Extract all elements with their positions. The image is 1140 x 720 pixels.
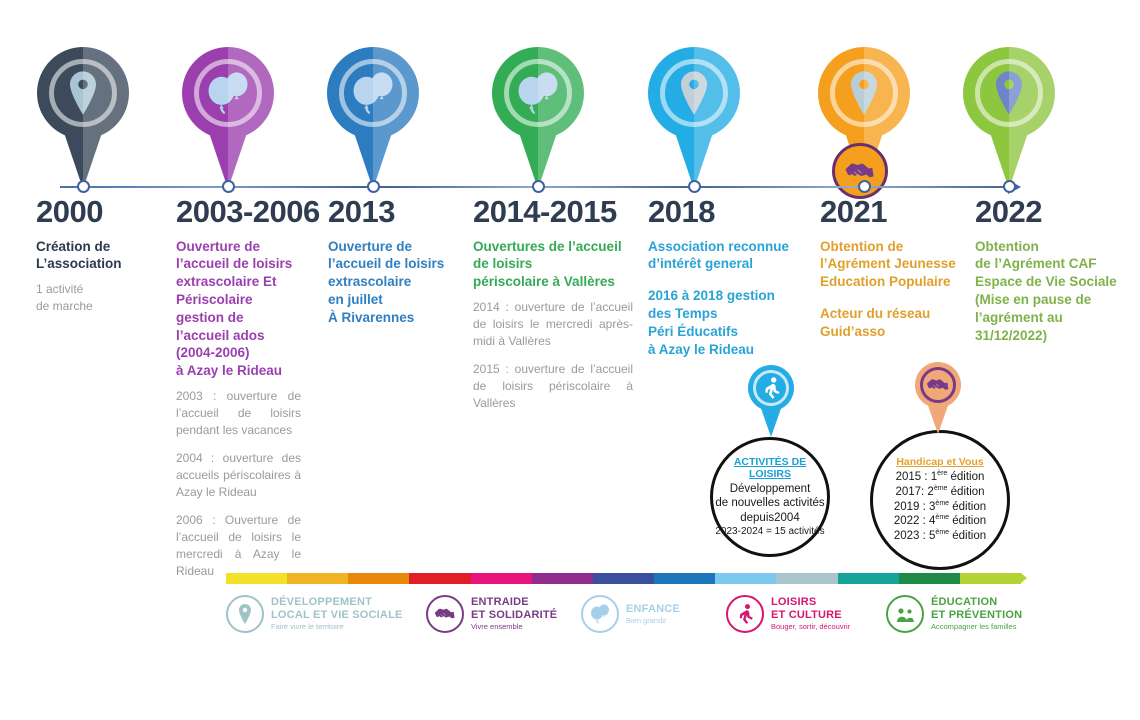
detail-paragraph: 2015 : ouverture de l’accueil de loisirs… (473, 361, 633, 412)
gradient-segment-13 (960, 573, 1021, 584)
column-lead: Ouvertures de l’accueilde loisirspérisco… (473, 238, 633, 291)
column-details: 1 activitéde marche (36, 281, 166, 315)
lead-line: Acteur du réseau (820, 306, 930, 321)
callout-line: depuis2004 (740, 511, 799, 526)
gradient-segment-8 (654, 573, 715, 584)
lead-line: l’accueil de loisirs (328, 256, 444, 271)
legend-title: DÉVELOPPEMENTLOCAL ET VIE SOCIALE (271, 596, 403, 621)
lead-line: périscolaire à Vallères (473, 274, 615, 289)
gradient-segment-4 (409, 573, 470, 584)
column-lead: Ouverture del’accueil de loisirsextrasco… (176, 238, 301, 381)
lead-line: (2004-2006) (176, 345, 250, 360)
column-lead-secondary: Acteur du réseauGuid’asso (820, 305, 970, 341)
legend-item-4: LOISIRSET CULTUREBouger, sortir, découvr… (726, 595, 850, 633)
lead-line: Ouverture de (328, 239, 412, 254)
axis-node-2018 (688, 180, 701, 193)
lead-line: Education Populaire (820, 274, 951, 289)
timeline-pin-2003-2006 (182, 47, 274, 189)
legend-row: DÉVELOPPEMENTLOCAL ET VIE SOCIALEFaire v… (226, 593, 1026, 645)
legend-text: ENFANCEBien grandir (626, 603, 680, 626)
callout-circle-1: ACTIVITÉS DE LOISIRSDéveloppementde nouv… (710, 437, 830, 557)
axis-node-2000 (77, 180, 90, 193)
gradient-segment-3 (348, 573, 409, 584)
lead-line: de loisirs (473, 256, 532, 271)
gradient-segment-10 (776, 573, 837, 584)
gradient-arrow-bar (226, 573, 1021, 584)
column-year: 2013 (328, 196, 463, 229)
legend-tagline: Vivre ensemble (471, 623, 557, 631)
person-active-icon (726, 595, 764, 633)
legend-title: LOISIRSET CULTURE (771, 596, 850, 621)
callout-pin-1 (748, 365, 794, 437)
timeline-column-2014-2015: 2014-2015Ouvertures de l’accueilde loisi… (473, 196, 633, 423)
legend-title: ENTRAIDEET SOLIDARITÉ (471, 596, 557, 621)
lead-line: (Mise en pause de (975, 292, 1091, 307)
callout-edition-row: 2017: 2ème édition (895, 485, 984, 500)
lead-line: Guid’asso (820, 324, 885, 339)
lead-line: de l’Agrément CAF (975, 256, 1097, 271)
timeline-pin-2000 (37, 47, 129, 189)
lead-line: Obtention (975, 239, 1039, 254)
balloons-icon (581, 595, 619, 633)
timeline-column-2003-2006: 2003-2006Ouverture del’accueil de loisir… (176, 196, 301, 591)
callout-line: Développement (730, 482, 811, 497)
legend-title: ENFANCE (626, 603, 680, 615)
column-lead: Création deL’association (36, 238, 166, 274)
timeline-pin-2013 (327, 47, 419, 189)
legend-item-2: ENTRAIDEET SOLIDARITÉVivre ensemble (426, 595, 557, 633)
lead-line: Obtention de (820, 239, 903, 254)
lead-line: à Azay le Rideau (176, 363, 282, 378)
legend-title: ÉDUCATIONET PRÉVENTION (931, 596, 1022, 621)
axis-node-2021 (858, 180, 871, 193)
legend-tagline: Bien grandir (626, 617, 680, 625)
lead-line: Péri Éducatifs (648, 324, 738, 339)
column-details: 2003 : ouverture de l’accueil de loisirs… (176, 388, 301, 580)
gradient-segment-11 (838, 573, 899, 584)
column-year: 2014-2015 (473, 196, 633, 229)
lead-line: l’accueil de loisirs (176, 256, 292, 271)
balloons-icon (512, 67, 564, 119)
axis-node-2022 (1003, 180, 1016, 193)
handshake-icon (925, 372, 951, 398)
timeline-infographic: 2000Création deL’association1 activitéde… (0, 0, 1140, 720)
map-marker-icon (668, 67, 720, 119)
timeline-column-2021: 2021Obtention del’Agrément JeunesseEduca… (820, 196, 970, 341)
column-lead-secondary: 2016 à 2018 gestiondes TempsPéri Éducati… (648, 287, 813, 358)
lead-line: L’association (36, 256, 122, 271)
timeline-column-2013: 2013Ouverture del’accueil de loisirsextr… (328, 196, 463, 327)
lead-line: extrascolaire Et (176, 274, 277, 289)
balloons-icon (347, 67, 399, 119)
gradient-segment-12 (899, 573, 960, 584)
timeline-column-2000: 2000Création deL’association1 activitéde… (36, 196, 166, 326)
legend-tagline: Accompagner les familles (931, 623, 1022, 631)
gradient-segment-1 (226, 573, 287, 584)
detail-paragraph: 2003 : ouverture de l’accueil de loisirs… (176, 388, 301, 439)
lead-line: Ouverture de (176, 239, 260, 254)
callout-line: de nouvelles activités (715, 496, 824, 511)
gradient-segment-2 (287, 573, 348, 584)
column-details: 2014 : ouverture de l’accueil de loisirs… (473, 299, 633, 412)
lead-line: 31/12/2022) (975, 328, 1047, 343)
person-active-icon (758, 375, 784, 401)
lead-line: à Azay le Rideau (648, 342, 754, 357)
lead-line: gestion de (176, 310, 244, 325)
column-lead: Obtentionde l’Agrément CAFEspace de Vie … (975, 238, 1135, 345)
column-year: 2021 (820, 196, 970, 229)
lead-line: 2016 à 2018 gestion (648, 288, 775, 303)
lead-line: l’agrément au (975, 310, 1063, 325)
column-lead: Association reconnued’intérêt general (648, 238, 813, 274)
lead-line: Ouvertures de l’accueil (473, 239, 622, 254)
detail-paragraph: 1 activitéde marche (36, 281, 166, 315)
legend-tagline: Bouger, sortir, découvrir (771, 623, 850, 631)
lead-line: Association reconnue (648, 239, 789, 254)
detail-paragraph: 2004 : ouverture des accueils périscolai… (176, 450, 301, 501)
legend-text: ÉDUCATIONET PRÉVENTIONAccompagner les fa… (931, 596, 1022, 631)
lead-line: extrascolaire (328, 274, 411, 289)
balloons-icon (202, 67, 254, 119)
detail-paragraph: 2006 : Ouverture de l’accueil de loisirs… (176, 512, 301, 580)
lead-line: l’accueil ados (176, 328, 265, 343)
map-marker-icon (983, 67, 1035, 119)
column-lead: Obtention del’Agrément JeunesseEducation… (820, 238, 970, 291)
column-year: 2018 (648, 196, 813, 229)
callout-edition-row: 2022 : 4ème édition (894, 514, 986, 529)
detail-paragraph: 2014 : ouverture de l’accueil de loisirs… (473, 299, 633, 350)
callout-title: Handicap et Vous (896, 456, 983, 468)
column-year: 2000 (36, 196, 166, 229)
callout-edition-row: 2023 : 5ème édition (894, 529, 986, 544)
lead-line: l’Agrément Jeunesse (820, 256, 956, 271)
column-lead: Ouverture del’accueil de loisirsextrasco… (328, 238, 463, 327)
timeline-column-2022: 2022Obtentionde l’Agrément CAFEspace de … (975, 196, 1135, 344)
lead-line: À Rivarennes (328, 310, 414, 325)
gradient-segment-7 (593, 573, 654, 584)
timeline-axis (60, 186, 1010, 188)
legend-item-5: ÉDUCATIONET PRÉVENTIONAccompagner les fa… (886, 595, 1022, 633)
callout-line-small: 2023-2024 = 15 activités (715, 526, 824, 539)
map-marker-icon (838, 67, 890, 119)
lead-line: des Temps (648, 306, 718, 321)
lead-line: Périscolaire (176, 292, 253, 307)
gradient-segment-5 (471, 573, 532, 584)
handshake-icon (426, 595, 464, 633)
callout-circle-2: Handicap et Vous2015 : 1ère édition2017:… (870, 430, 1010, 570)
lead-line: d’intérêt general (648, 256, 753, 271)
legend-text: ENTRAIDEET SOLIDARITÉVivre ensemble (471, 596, 557, 631)
column-year: 2003-2006 (176, 196, 301, 229)
legend-item-1: DÉVELOPPEMENTLOCAL ET VIE SOCIALEFaire v… (226, 595, 403, 633)
family-faces-icon (886, 595, 924, 633)
callout-title: ACTIVITÉS DE LOISIRS (713, 456, 827, 480)
gradient-segment-6 (532, 573, 593, 584)
timeline-pin-2022 (963, 47, 1055, 189)
map-marker-icon (57, 67, 109, 119)
timeline-pin-2018 (648, 47, 740, 189)
axis-node-2003-2006 (222, 180, 235, 193)
lead-line: Création de (36, 239, 110, 254)
callout-edition-row: 2015 : 1ère édition (896, 470, 985, 485)
legend-tagline: Faire vivre le territoire (271, 623, 403, 631)
lead-line: en juillet (328, 292, 383, 307)
timeline-column-2018: 2018Association reconnued’intérêt genera… (648, 196, 813, 358)
legend-text: LOISIRSET CULTUREBouger, sortir, découvr… (771, 596, 850, 631)
legend-text: DÉVELOPPEMENTLOCAL ET VIE SOCIALEFaire v… (271, 596, 403, 631)
axis-node-2013 (367, 180, 380, 193)
lead-line: Espace de Vie Sociale (975, 274, 1117, 289)
column-year: 2022 (975, 196, 1135, 229)
timeline-pin-2014-2015 (492, 47, 584, 189)
callout-edition-row: 2019 : 3ème édition (894, 500, 986, 515)
map-marker-icon (226, 595, 264, 633)
callout-pin-2 (915, 362, 961, 434)
gradient-segment-9 (715, 573, 776, 584)
legend-item-3: ENFANCEBien grandir (581, 595, 680, 633)
axis-node-2014-2015 (532, 180, 545, 193)
